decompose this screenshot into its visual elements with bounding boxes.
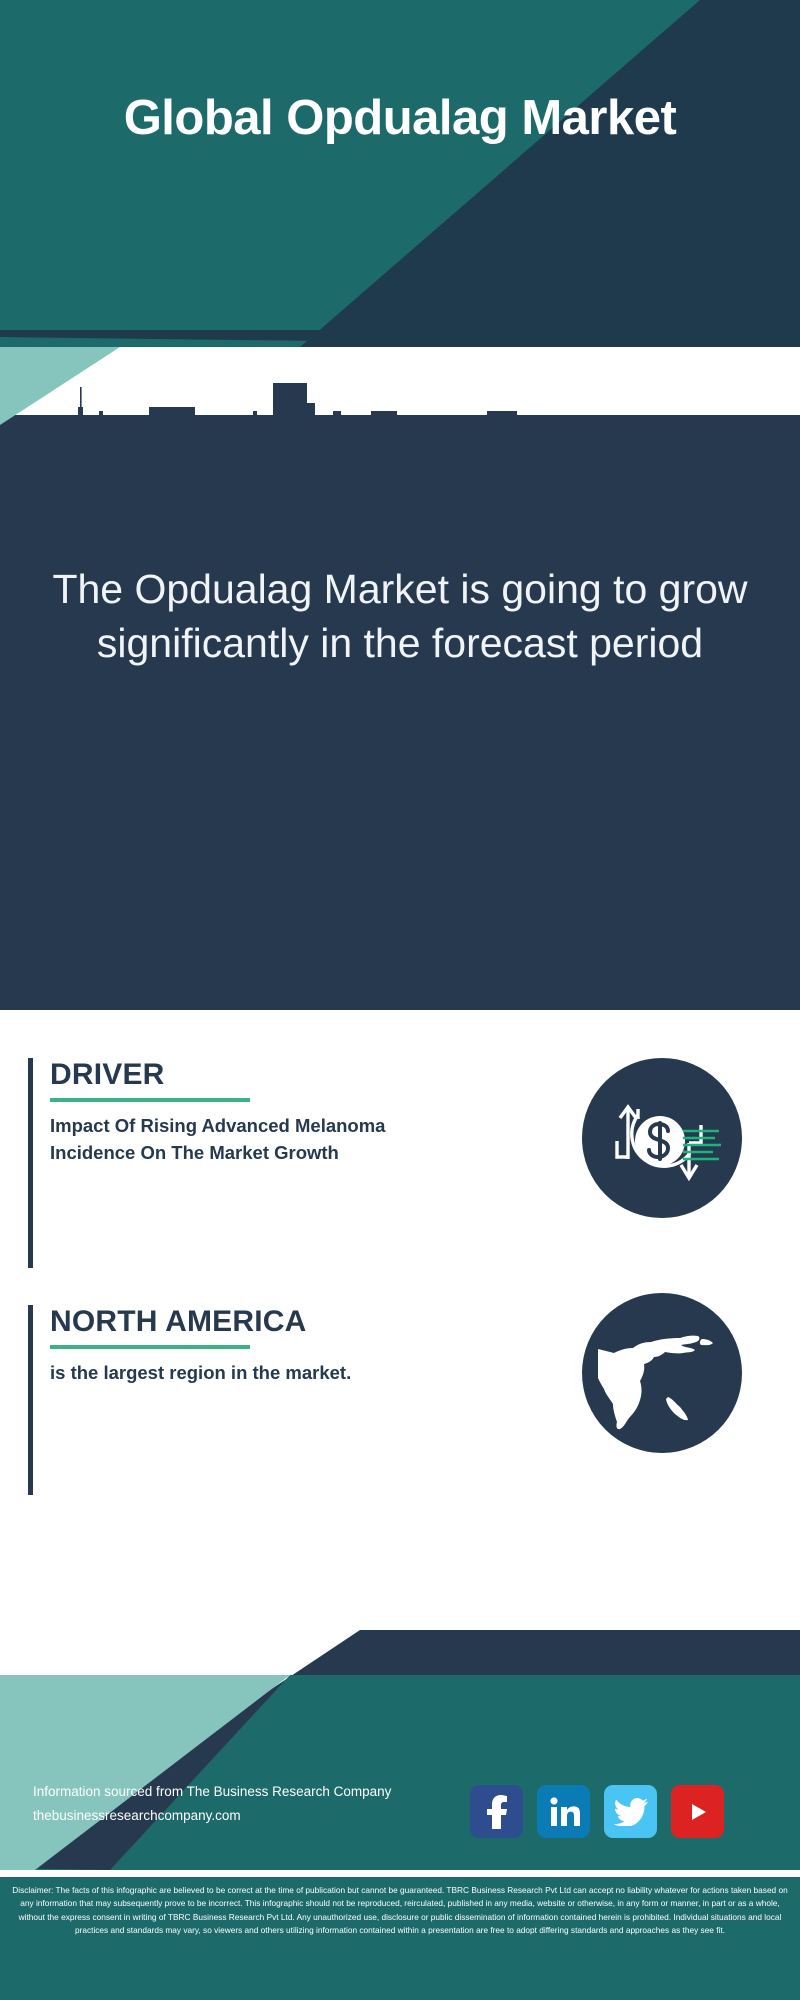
footer-website-link[interactable]: thebusinessresearchcompany.com [33, 1804, 503, 1828]
insight-cards: DRIVER Impact Of Rising Advanced Melanom… [0, 1010, 800, 1310]
card-accent-bar [28, 1058, 33, 1268]
youtube-icon[interactable] [671, 1785, 724, 1838]
dollar-growth-arrows-icon [582, 1058, 742, 1218]
footer-divider [0, 1873, 800, 1877]
card-north-america-body: is the largest region in the market. [50, 1360, 448, 1387]
footer: Information sourced from The Business Re… [0, 1620, 800, 2000]
footer-disclaimer: Disclaimer: The facts of this infographi… [0, 1877, 800, 2000]
city-skyline-icon [0, 367, 800, 527]
north-america-map-icon [582, 1293, 742, 1453]
social-links [470, 1785, 724, 1838]
card-north-america-title: NORTH AMERICA [50, 1305, 448, 1338]
card-driver-text: DRIVER Impact Of Rising Advanced Melanom… [28, 1058, 448, 1167]
twitter-icon[interactable] [604, 1785, 657, 1838]
card-accent-bar [28, 1305, 33, 1495]
header-banner: Global Opdualag Market [0, 0, 800, 347]
card-north-america: NORTH AMERICA is the largest region in t… [28, 1305, 772, 1495]
card-driver-rule [50, 1098, 250, 1102]
footer-source-block: Information sourced from The Business Re… [33, 1780, 503, 1829]
card-north-america-text: NORTH AMERICA is the largest region in t… [28, 1305, 448, 1387]
hero-statement: The Opdualag Market is going to grow sig… [40, 562, 760, 670]
card-north-america-rule [50, 1345, 250, 1349]
header-teal-wedge [0, 0, 800, 347]
page-title: Global Opdualag Market [0, 90, 800, 146]
card-driver-title: DRIVER [50, 1058, 448, 1091]
hero-section: The Opdualag Market is going to grow sig… [0, 347, 800, 1010]
card-driver: DRIVER Impact Of Rising Advanced Melanom… [28, 1058, 772, 1268]
linkedin-icon[interactable] [537, 1785, 590, 1838]
card-driver-body: Impact Of Rising Advanced Melanoma Incid… [50, 1113, 448, 1167]
facebook-icon[interactable] [470, 1785, 523, 1838]
footer-source-line1: Information sourced from The Business Re… [33, 1780, 503, 1804]
